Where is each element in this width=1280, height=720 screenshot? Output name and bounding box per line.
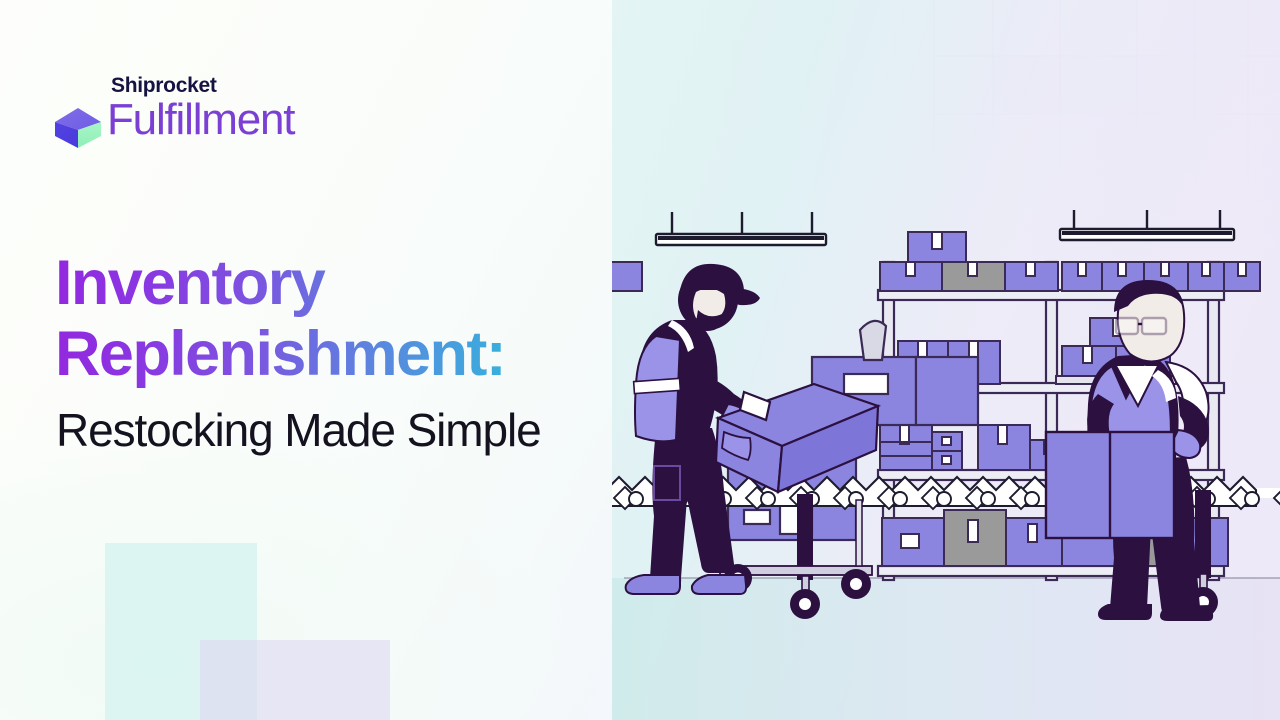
isometric-box-logo-icon — [52, 106, 104, 150]
decor-square-lavender — [200, 640, 390, 720]
brand-logo[interactable]: Shiprocket Fulfillment — [52, 74, 352, 166]
warehouse-illustration — [612, 0, 1280, 720]
page-headline: Inventory Replenishment: — [55, 248, 695, 390]
page-subheadline: Restocking Made Simple — [56, 403, 541, 457]
hero-banner: Shiprocket Fulfillment Inventory Repleni… — [0, 0, 1280, 720]
brand-product: Fulfillment — [107, 98, 294, 142]
trolley-handle — [860, 321, 886, 360]
